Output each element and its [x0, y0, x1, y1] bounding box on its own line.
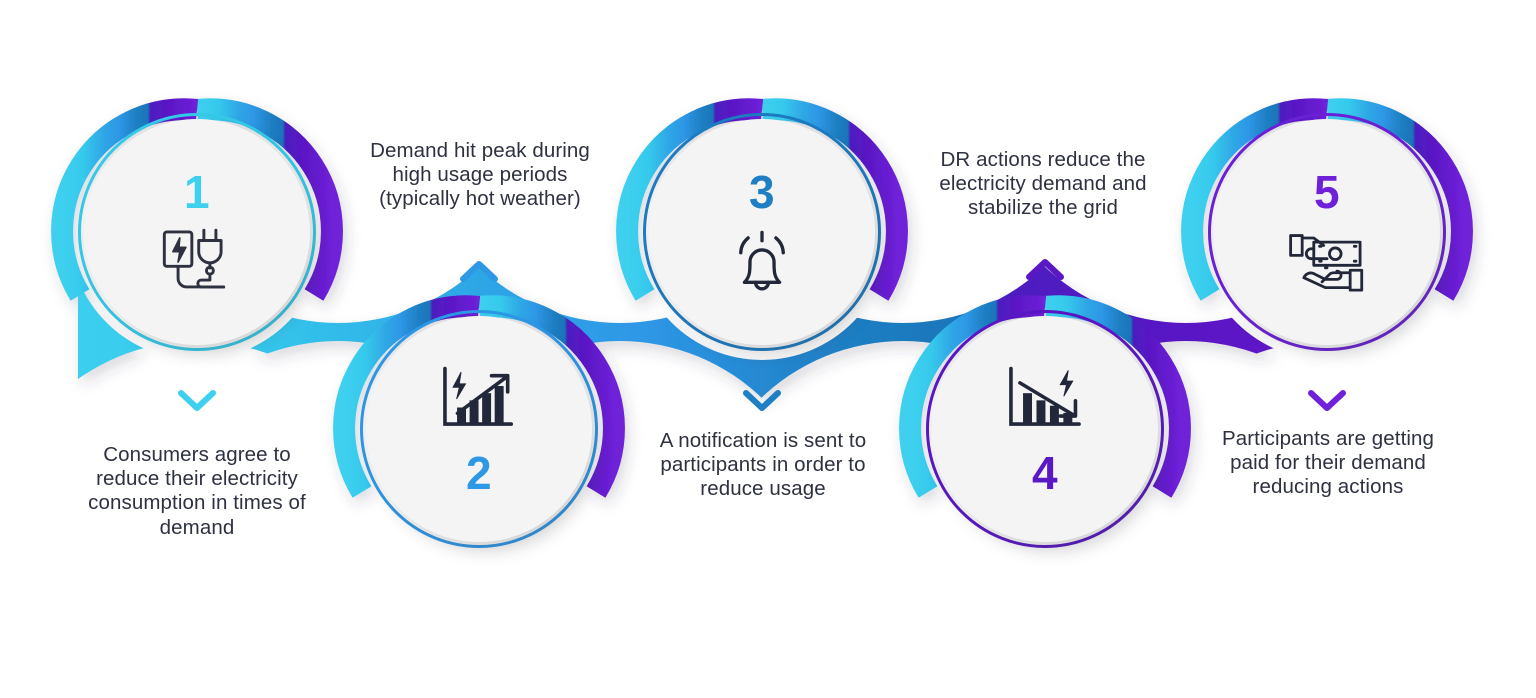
caption-line: reduce their electricity [60, 467, 334, 491]
step-node-3[interactable]: 3 [643, 113, 881, 351]
caption-line: Participants are getting [1188, 427, 1468, 451]
step-caption-2: Demand hit peak during high usage period… [340, 139, 620, 212]
cash-in-hand-icon [1284, 225, 1370, 299]
caption-line: reduce usage [625, 477, 901, 501]
chevron-down-icon-5 [1307, 388, 1347, 414]
step-node-2[interactable]: 2 [360, 310, 598, 548]
caption-line: Consumers agree to [60, 443, 334, 467]
step-node-4[interactable]: 4 [926, 310, 1164, 548]
step-number-1: 1 [184, 169, 210, 215]
step-number-2: 2 [466, 450, 492, 496]
caption-line: A notification is sent to [625, 429, 901, 453]
rising-bar-chart-bolt-icon [436, 362, 522, 436]
step-number-5: 5 [1314, 169, 1340, 215]
caption-line: demand [60, 516, 334, 540]
caption-line: electricity demand and [905, 172, 1181, 196]
step-caption-1: Consumers agree to reduce their electric… [60, 443, 334, 540]
caption-line: paid for their demand [1188, 451, 1468, 475]
step-disc-3: 3 [649, 119, 875, 345]
caption-line: reducing actions [1188, 475, 1468, 499]
electric-plug-icon [154, 225, 240, 299]
caption-line: stabilize the grid [905, 196, 1181, 220]
caption-line: DR actions reduce the [905, 148, 1181, 172]
notification-bell-icon [719, 225, 805, 299]
step-node-1[interactable]: 1 [78, 113, 316, 351]
step-disc-5: 5 [1214, 119, 1440, 345]
caption-line: (typically hot weather) [340, 187, 620, 211]
step-caption-4: DR actions reduce the electricity demand… [905, 148, 1181, 221]
step-disc-2: 2 [366, 316, 592, 542]
step-node-5[interactable]: 5 [1208, 113, 1446, 351]
chevron-up-icon-4 [1025, 256, 1065, 282]
step-number-4: 4 [1032, 450, 1058, 496]
step-caption-3: A notification is sent to participants i… [625, 429, 901, 502]
caption-line: consumption in times of [60, 491, 334, 515]
caption-line: high usage periods [340, 163, 620, 187]
step-disc-4: 4 [932, 316, 1158, 542]
step-disc-1: 1 [84, 119, 310, 345]
chevron-down-icon-3 [742, 388, 782, 414]
step-caption-5: Participants are getting paid for their … [1188, 427, 1468, 500]
step-number-3: 3 [749, 169, 775, 215]
caption-line: participants in order to [625, 453, 901, 477]
falling-bar-chart-bolt-icon [1002, 362, 1088, 436]
caption-line: Demand hit peak during [340, 139, 620, 163]
infographic-stage: 1 [0, 0, 1536, 698]
chevron-up-icon-2 [459, 258, 499, 284]
chevron-down-icon-1 [177, 388, 217, 414]
